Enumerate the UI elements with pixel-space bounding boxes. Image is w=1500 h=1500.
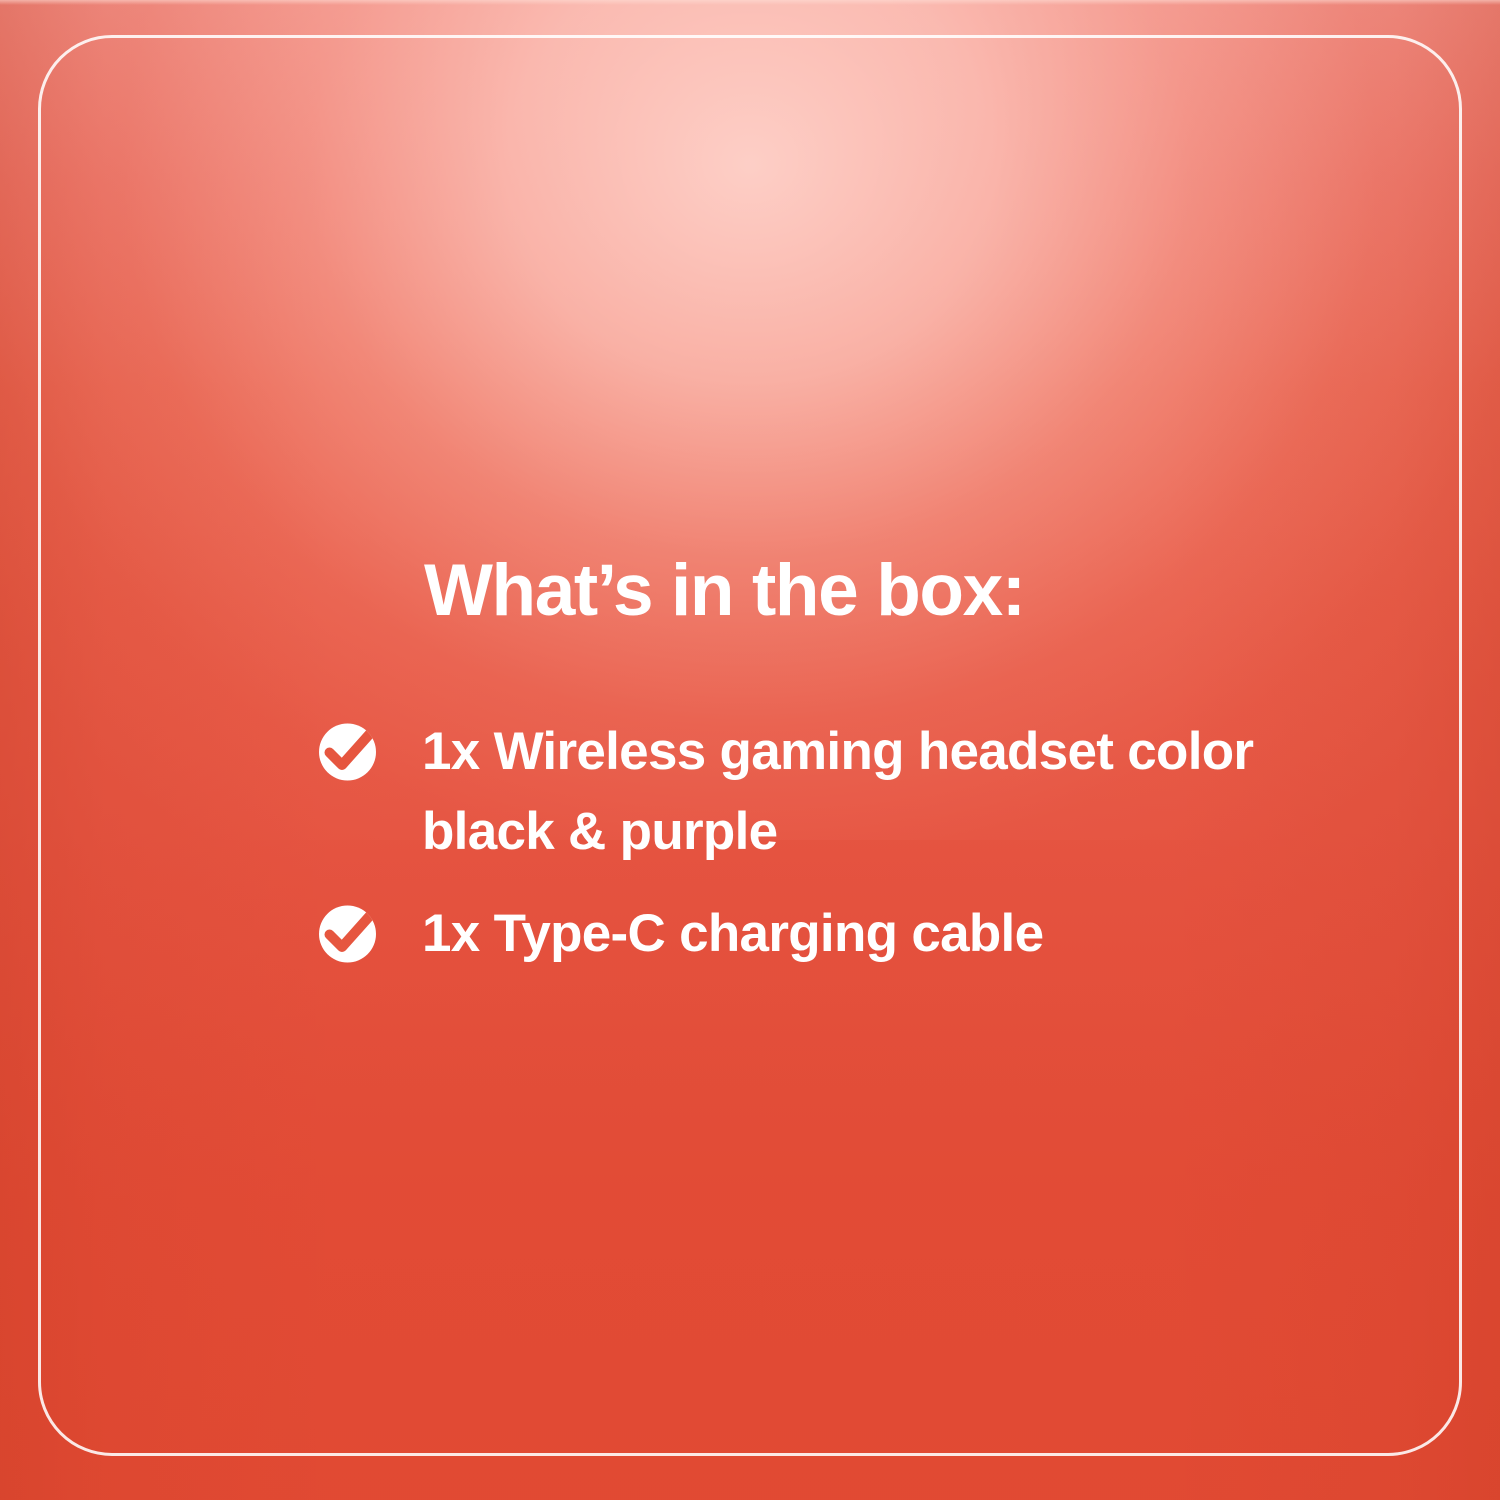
product-infographic-panel: What’s in the box: [0, 0, 1500, 1500]
list-item-label: 1x Type-C charging cable [422, 904, 1043, 963]
check-circle-icon [315, 719, 380, 784]
list-item: 1x Wireless gaming headset color black &… [312, 712, 1262, 872]
box-contents-list: 1x Wireless gaming headset color black &… [312, 712, 1262, 974]
check-circle-icon [315, 901, 380, 966]
page-title: What’s in the box: [424, 552, 1025, 629]
panel-content: What’s in the box: [0, 0, 1500, 1500]
list-item: 1x Type-C charging cable [312, 894, 1262, 974]
list-item-label: 1x Wireless gaming headset color black &… [422, 722, 1253, 861]
